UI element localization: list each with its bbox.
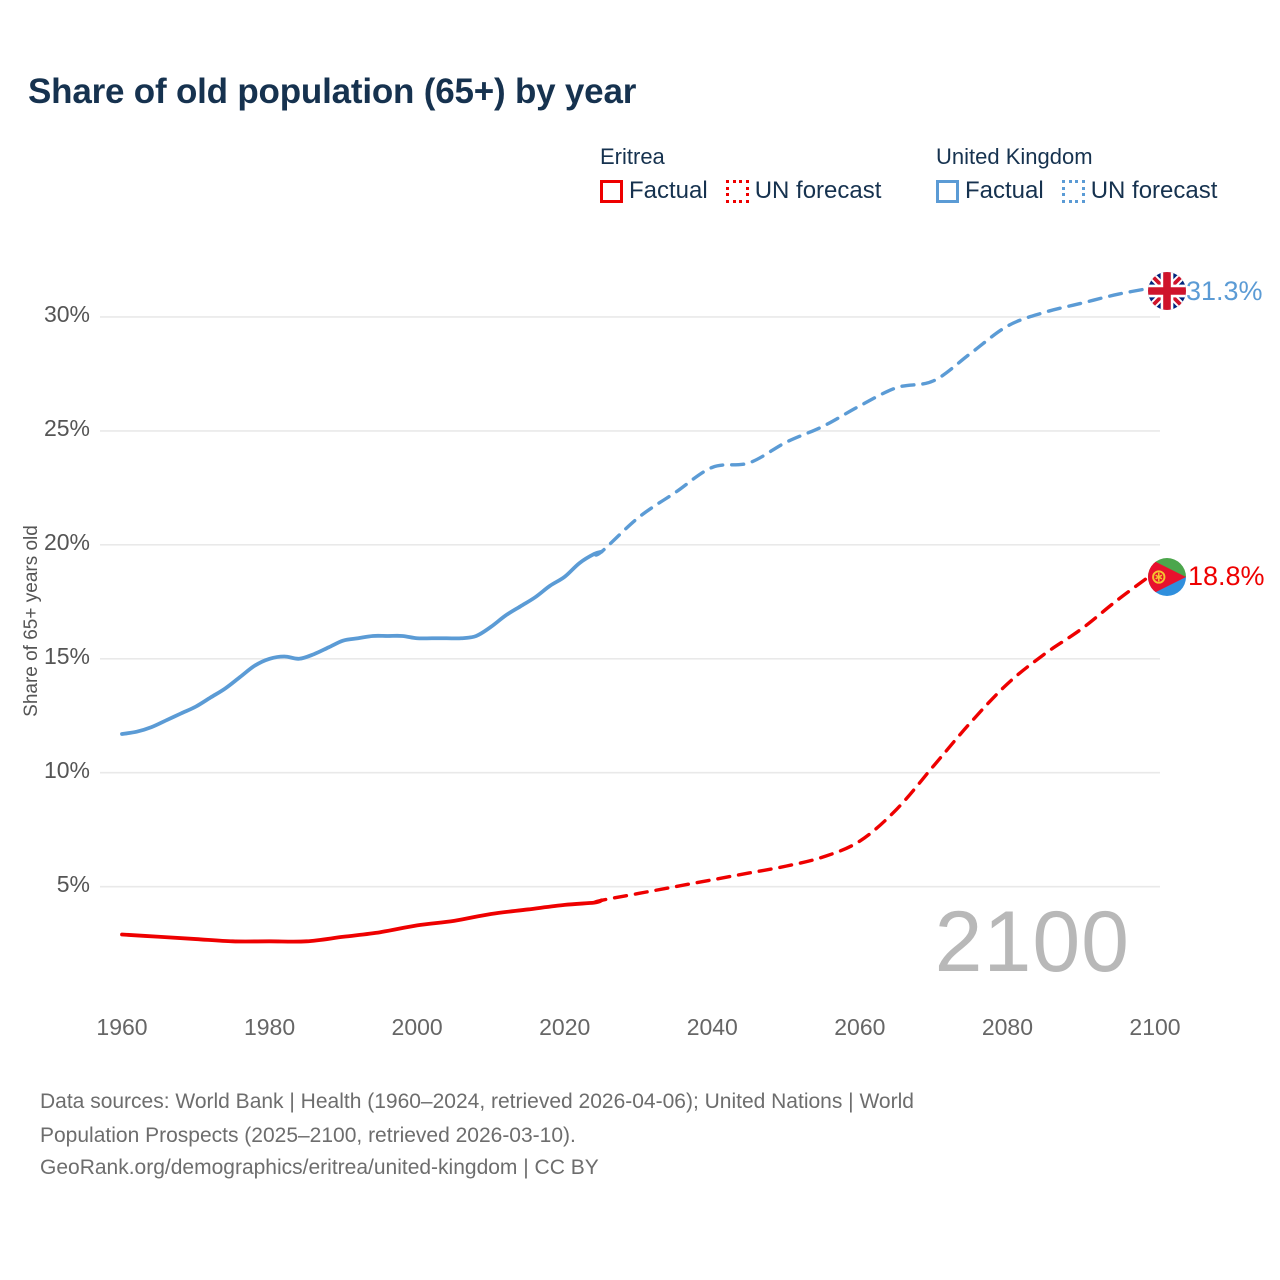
y-tick-label: 25% [10,415,90,442]
footer-line-3: GeoRank.org/demographics/eritrea/united-… [40,1152,1200,1184]
y-tick-label: 20% [10,529,90,556]
legend-item-eritrea-factual[interactable]: Factual [600,177,708,205]
footer-sources: Data sources: World Bank | Health (1960–… [40,1086,1200,1184]
legend-label-uk-forecast: UN forecast [1091,177,1218,205]
legend-label-eritrea-forecast: UN forecast [755,177,882,205]
x-tick-label: 2000 [357,1014,477,1041]
legend-country-eritrea: Eritrea [600,144,899,170]
y-axis-label: Share of 65+ years old [21,471,43,771]
x-tick-label: 2020 [505,1014,625,1041]
y-tick-label: 15% [10,643,90,670]
x-tick-label: 2040 [652,1014,772,1041]
footer-line-1: Data sources: World Bank | Health (1960–… [40,1086,1200,1118]
page-title: Share of old population (65+) by year [28,72,636,112]
chart-container: Share of old population (65+) by year Er… [0,0,1280,1280]
footer-line-2: Population Prospects (2025–2100, retriev… [40,1120,1200,1152]
legend-item-uk-factual[interactable]: Factual [936,177,1044,205]
legend-item-uk-forecast[interactable]: UN forecast [1062,177,1218,205]
year-watermark: 2100 [935,893,1130,992]
legend-group-united-kingdom: United Kingdom Factual UN forecast [936,144,1235,205]
legend-label-eritrea-factual: Factual [629,177,708,205]
x-tick-label: 1980 [210,1014,330,1041]
legend-swatch-solid-red-icon [600,180,623,203]
legend-group-eritrea: Eritrea Factual UN forecast [600,144,899,205]
y-tick-label: 10% [10,757,90,784]
x-tick-label: 1960 [62,1014,182,1041]
legend-swatch-dotted-red-icon [726,180,749,203]
legend-label-uk-factual: Factual [965,177,1044,205]
legend-country-united-kingdom: United Kingdom [936,144,1235,170]
end-label-eritrea: 18.8% [1188,561,1265,592]
y-tick-label: 5% [10,871,90,898]
legend-item-eritrea-forecast[interactable]: UN forecast [726,177,882,205]
flag-eritrea-icon [1148,558,1186,596]
end-label-united-kingdom: 31.3% [1186,276,1263,307]
chart-legend: Eritrea Factual UN forecast United Kingd… [600,144,1260,224]
y-tick-label: 30% [10,301,90,328]
legend-swatch-solid-blue-icon [936,180,959,203]
x-tick-label: 2100 [1095,1014,1215,1041]
x-tick-label: 2080 [947,1014,1067,1041]
x-tick-label: 2060 [800,1014,920,1041]
flag-united-kingdom-icon [1148,272,1186,310]
legend-swatch-dotted-blue-icon [1062,180,1085,203]
